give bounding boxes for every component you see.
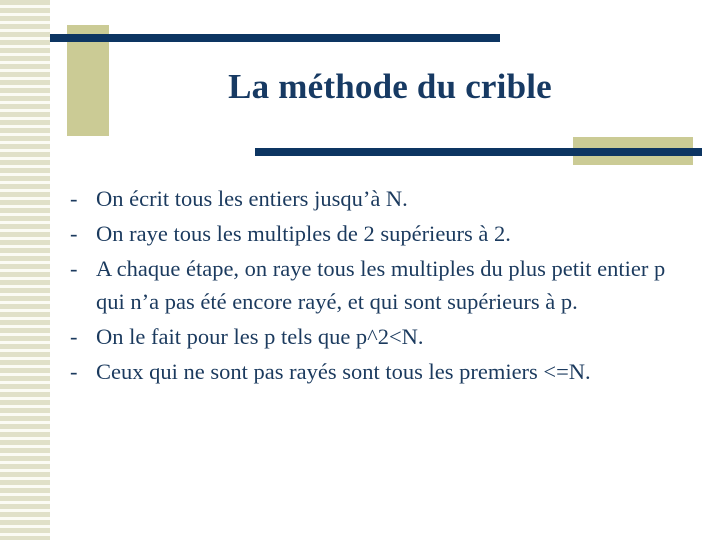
bullet-marker-icon: -	[70, 217, 96, 250]
list-item: - On raye tous les multiples de 2 supéri…	[70, 217, 695, 250]
list-item-text: On écrit tous les entiers jusqu’à N.	[96, 182, 695, 215]
list-item: - A chaque étape, on raye tous les multi…	[70, 252, 695, 318]
list-item-text: On raye tous les multiples de 2 supérieu…	[96, 217, 695, 250]
bullet-marker-icon: -	[70, 320, 96, 353]
divider-navy-rule	[255, 148, 702, 156]
bullet-marker-icon: -	[70, 252, 96, 285]
page-title: La méthode du crible	[130, 68, 650, 107]
list-item: - Ceux qui ne sont pas rayés sont tous l…	[70, 355, 695, 388]
bullet-list: - On écrit tous les entiers jusqu’à N. -…	[70, 182, 695, 390]
list-item-text: Ceux qui ne sont pas rayés sont tous les…	[96, 355, 695, 388]
bullet-marker-icon: -	[70, 182, 96, 215]
top-navy-rule	[50, 34, 500, 42]
list-item-text: On le fait pour les p tels que p^2<N.	[96, 320, 695, 353]
left-stripe-decoration	[0, 0, 50, 540]
list-item: - On le fait pour les p tels que p^2<N.	[70, 320, 695, 353]
list-item-text: A chaque étape, on raye tous les multipl…	[96, 252, 695, 318]
bullet-marker-icon: -	[70, 355, 96, 388]
presentation-slide: La méthode du crible - On écrit tous les…	[0, 0, 720, 540]
list-item: - On écrit tous les entiers jusqu’à N.	[70, 182, 695, 215]
